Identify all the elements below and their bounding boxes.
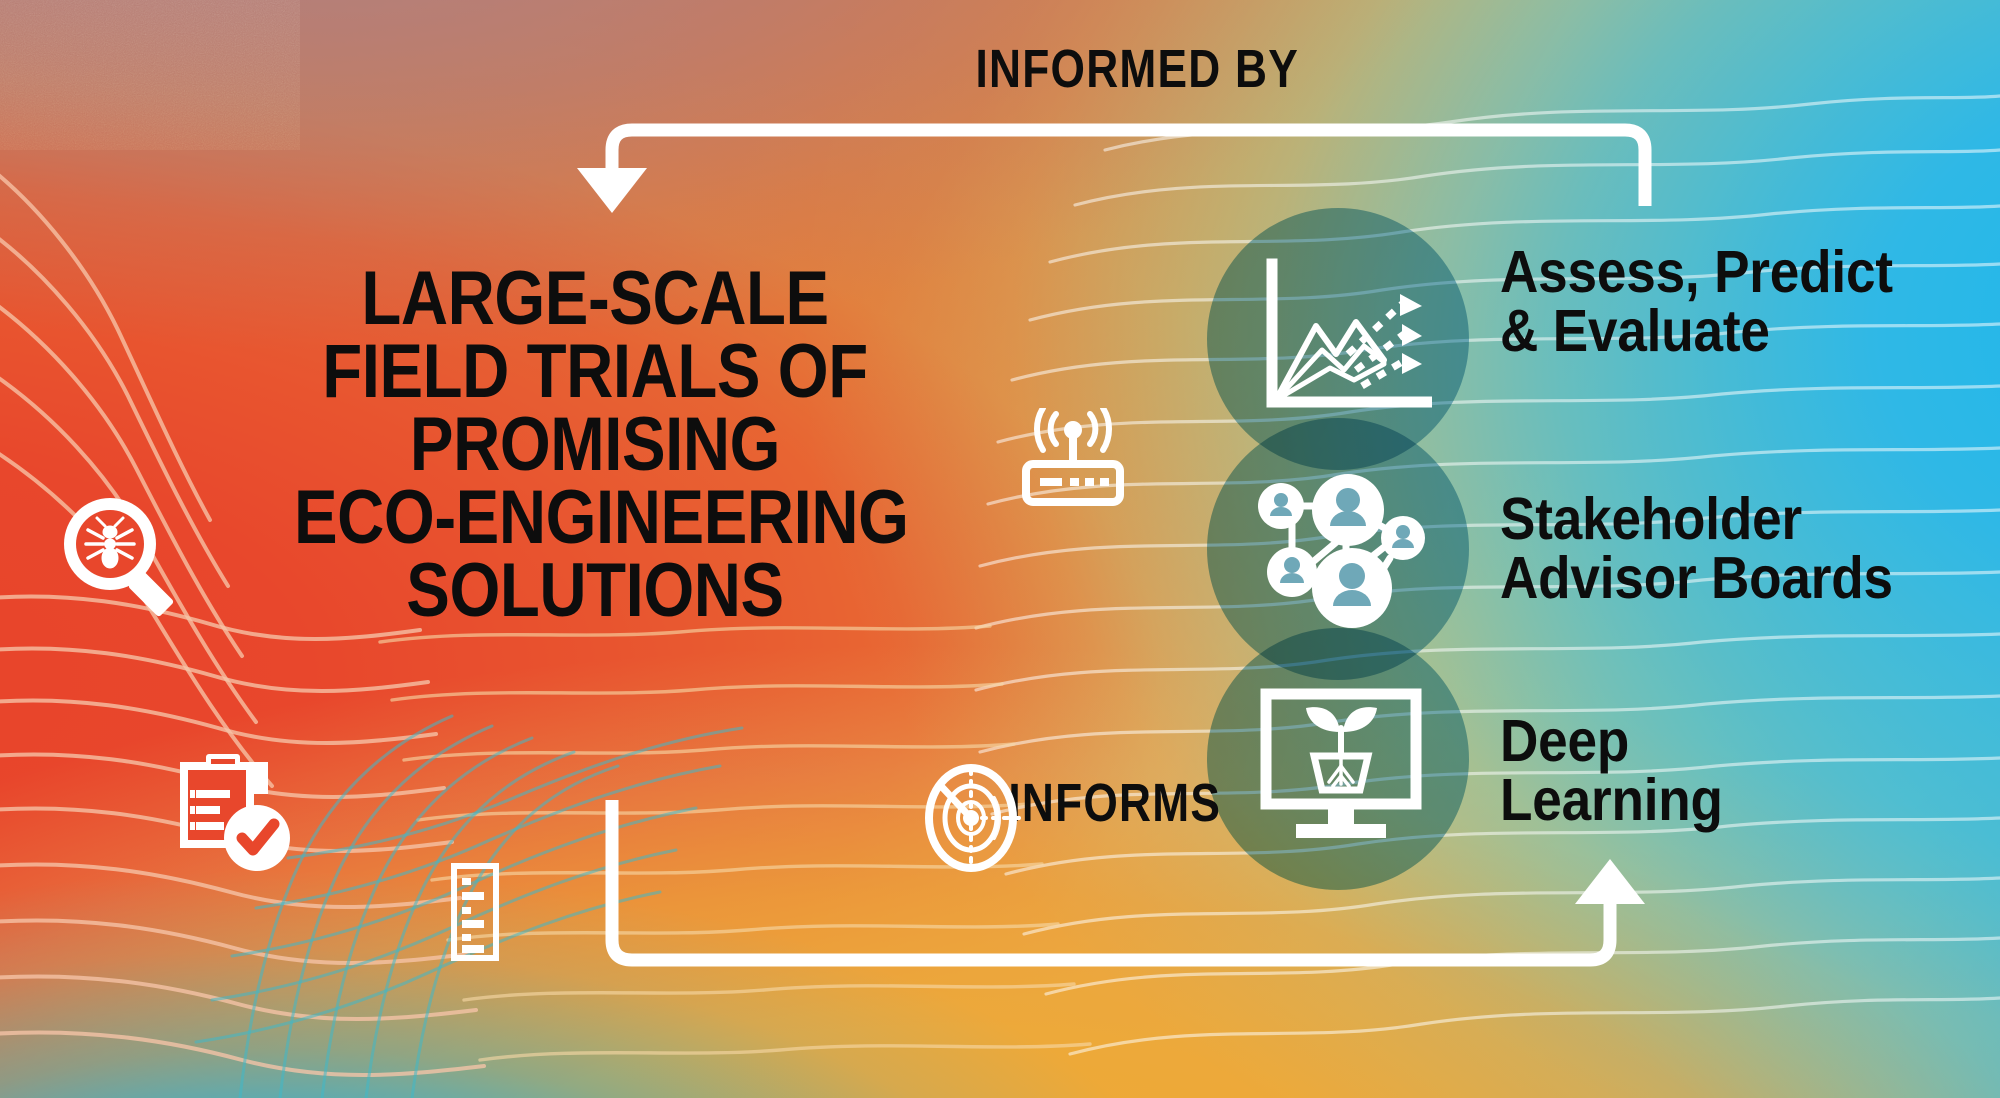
title-line-1: LARGE-SCALE [294,262,896,335]
pillar-label-deep: Deep Learning [1500,712,1723,830]
wireless-router-icon [1018,408,1128,508]
grain-texture [0,0,300,150]
person-node-small-right [1381,516,1425,560]
monitor-seedling-icon [1258,688,1424,852]
people-network-icon [1248,462,1430,640]
informed-by-arrow [577,130,1645,213]
title-line-2: FIELD TRIALS OF [294,335,896,408]
radar-icon [916,762,1026,874]
clipboard-check-icon [168,748,298,884]
pillar-label-stakeholder: Stakeholder Advisor Boards [1500,490,1893,608]
infographic-canvas: LARGE-SCALE FIELD TRIALS OF PROMISING EC… [0,0,2000,1098]
pillar-label-assess: Assess, Predict & Evaluate [1500,243,1893,361]
ruler-icon [448,862,502,962]
person-node-large-center [1312,474,1384,546]
title-line-5: SOLUTIONS [294,554,896,627]
informed-by-label: INFORMED BY [976,38,1299,100]
informs-label: INFORMS [1008,772,1221,834]
title-line-4: ECO-ENGINEERING [294,481,896,554]
title-line-3: PROMISING [294,408,896,481]
person-node-small-topleft [1258,483,1304,529]
line-chart-arrows-icon [1252,250,1432,430]
main-title: LARGE-SCALE FIELD TRIALS OF PROMISING EC… [245,262,945,627]
person-node-small-midleft [1267,547,1317,597]
person-node-large-bottom [1312,548,1392,628]
magnifier-ant-icon [52,488,192,628]
